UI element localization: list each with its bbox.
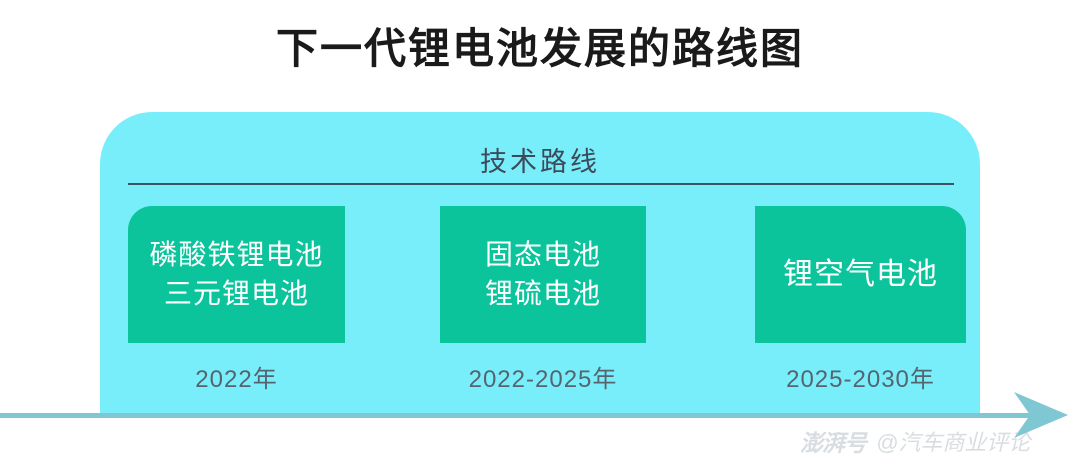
timeline-year-labels: 2022年 2022-2025年 2025-2030年 [100, 359, 980, 393]
year-label-solid-state-lithium-sulfur: 2022-2025年 [440, 359, 646, 394]
year-label-lfp-ncm: 2022年 [128, 359, 345, 394]
watermark: 澎湃号 @汽车商业评论 [800, 424, 1030, 458]
tech-card-lfp-ncm[interactable]: 磷酸铁锂电池 三元锂电池 [128, 206, 345, 343]
watermark-account-name: @汽车商业评论 [876, 425, 1030, 457]
technology-cards-row: 磷酸铁锂电池 三元锂电池 固态电池 锂硫电池 锂空气电池 [100, 206, 980, 343]
tech-card-line: 锂硫电池 [485, 275, 601, 314]
tech-card-line: 锂空气电池 [783, 254, 938, 295]
tech-card-solid-state-lithium-sulfur[interactable]: 固态电池 锂硫电池 [440, 206, 646, 343]
page-title: 下一代锂电池发展的路线图 [0, 26, 1080, 72]
panel-heading: 技术路线 [100, 140, 980, 179]
tech-roadmap-panel: 技术路线 磷酸铁锂电池 三元锂电池 固态电池 锂硫电池 锂空气电池 2022年 … [100, 112, 980, 414]
watermark-logo: 澎湃号 [800, 424, 866, 458]
tech-card-line: 固态电池 [485, 236, 601, 275]
tech-card-line: 三元锂电池 [164, 275, 309, 314]
tech-card-line: 磷酸铁锂电池 [149, 236, 323, 275]
panel-divider [128, 183, 954, 185]
year-label-lithium-air: 2025-2030年 [755, 359, 966, 394]
timeline-arrow-line [0, 413, 1045, 418]
infographic-root: 下一代锂电池发展的路线图 技术路线 磷酸铁锂电池 三元锂电池 固态电池 锂硫电池… [0, 0, 1080, 466]
tech-card-lithium-air[interactable]: 锂空气电池 [755, 206, 966, 343]
